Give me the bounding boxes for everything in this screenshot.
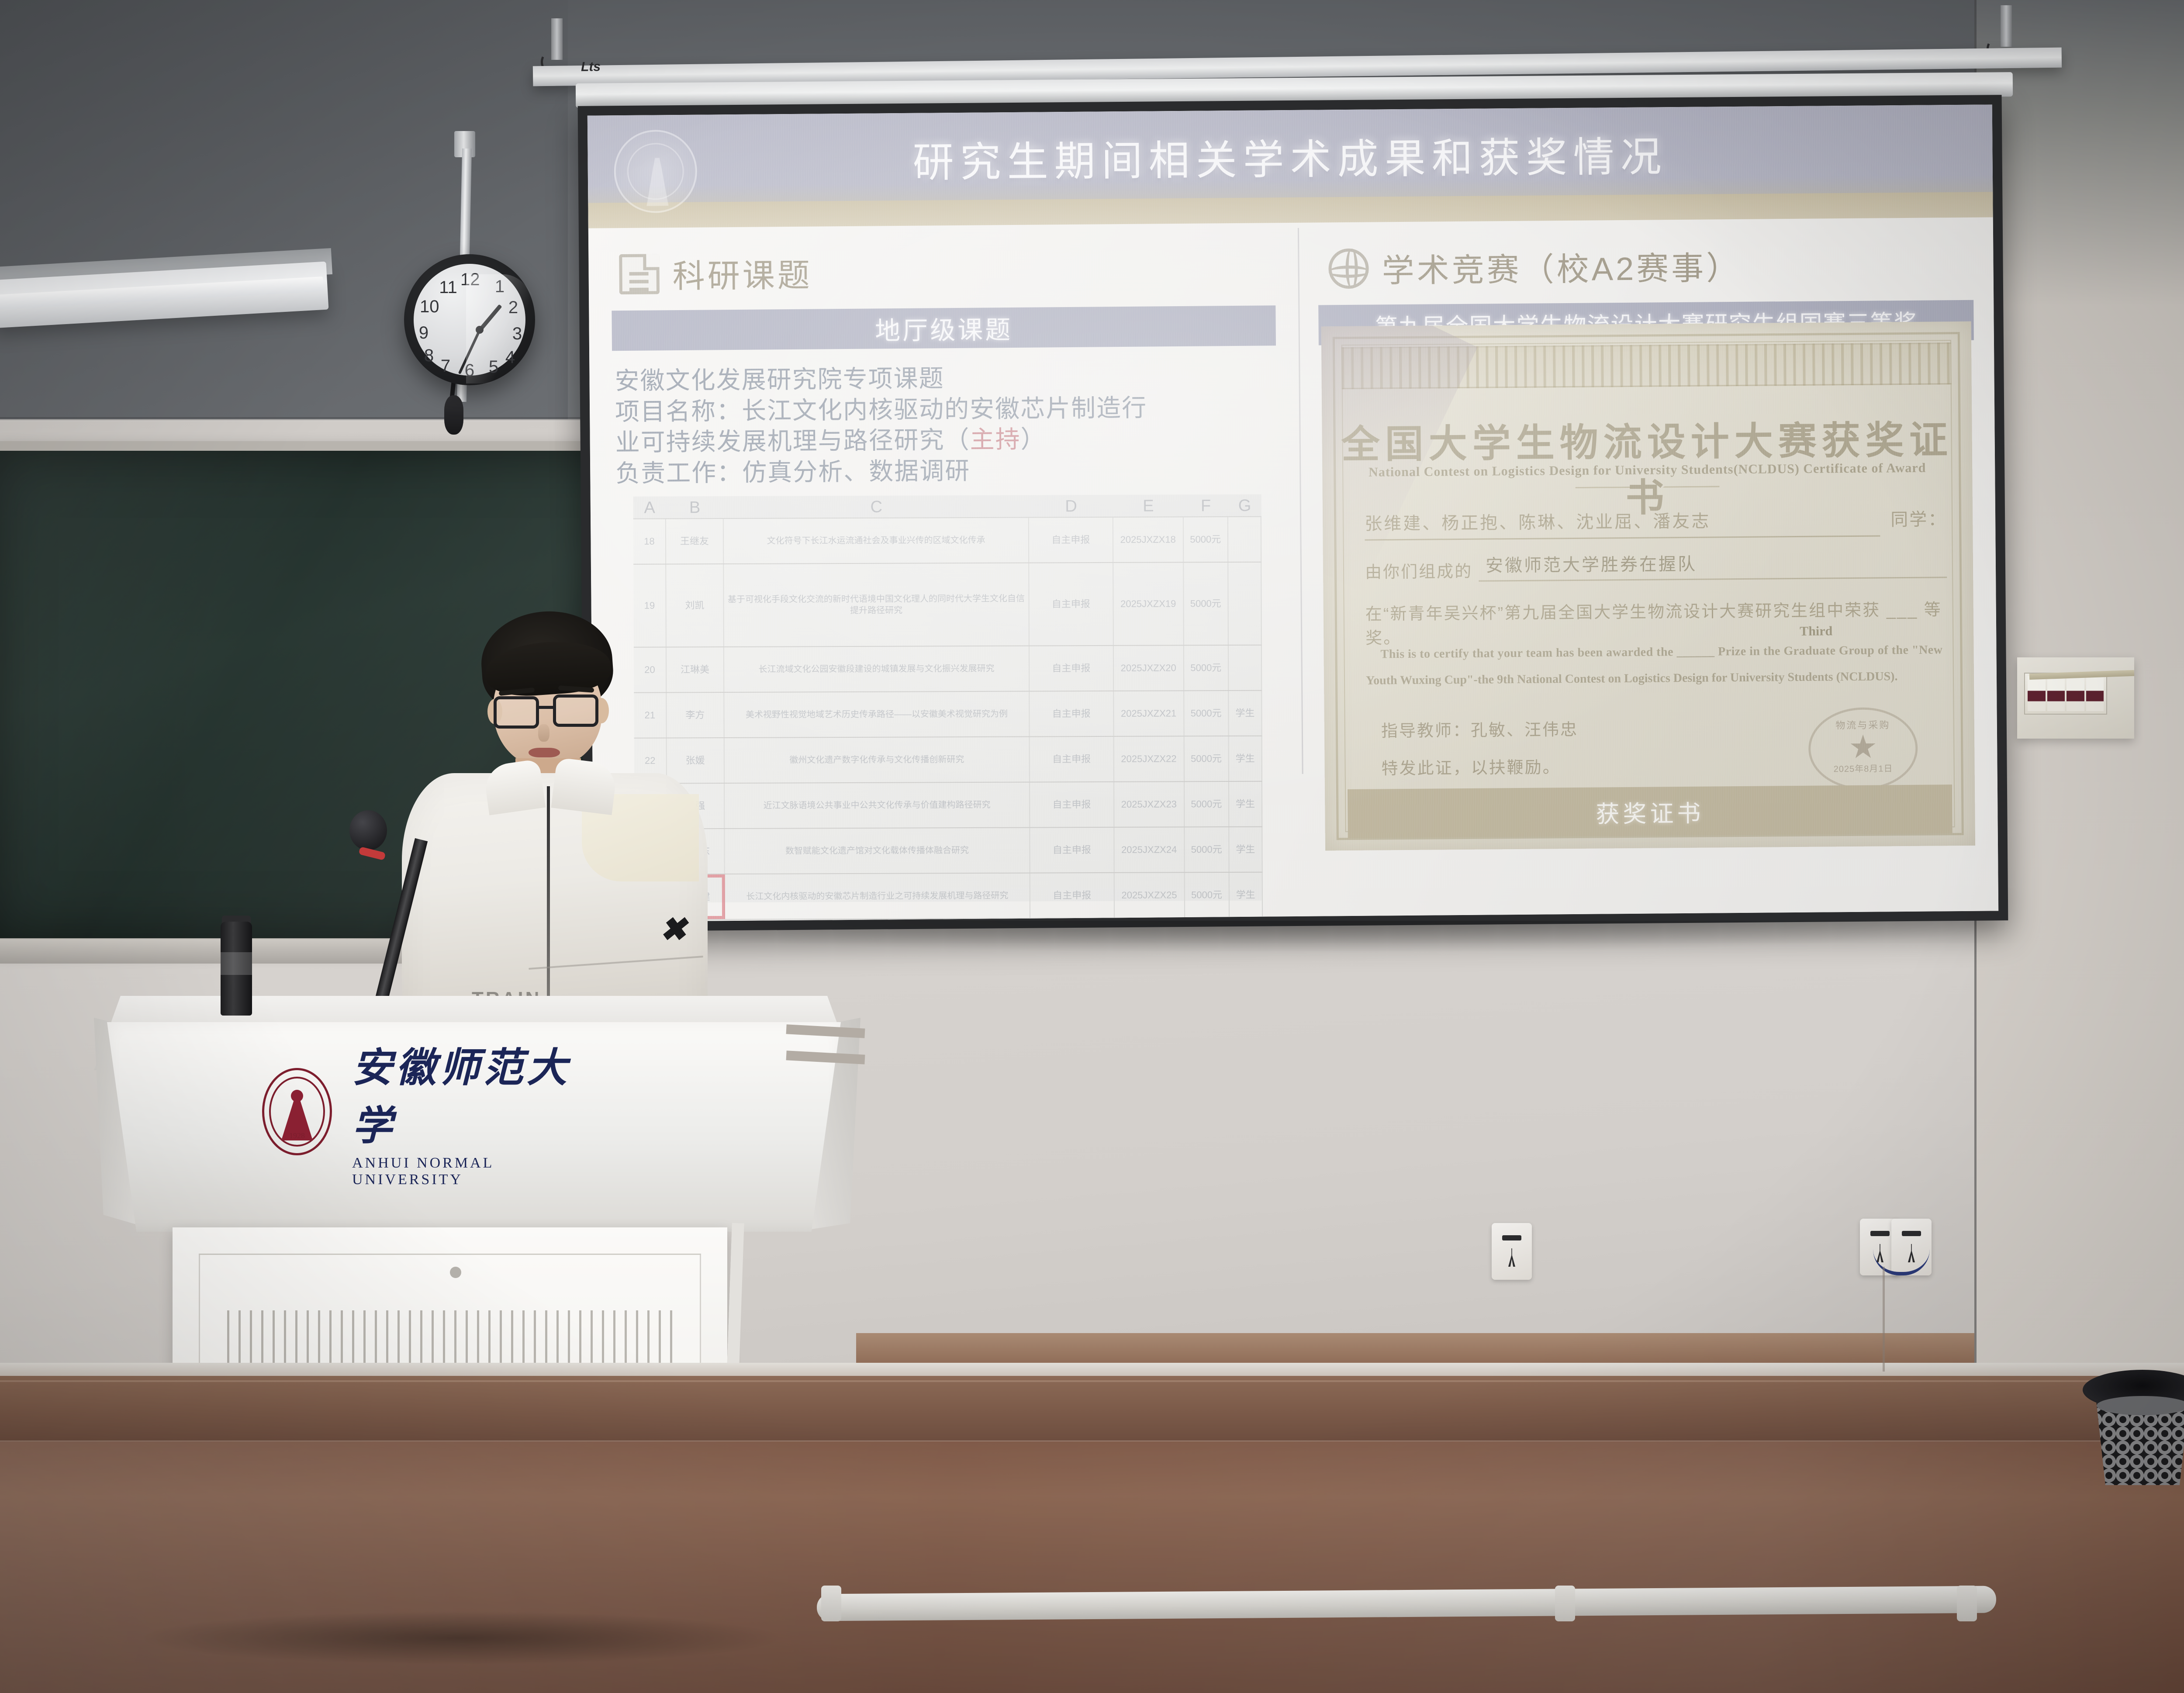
cell-topic: 徽州文化遗产数字化传承与文化传播创新研究 [725,737,1030,783]
table-row: 23 孙强 近江文脉语境公共事业中公共文化传承与价值建构路径研究 自主申报 20… [634,782,1262,829]
cell-no: 18 [633,519,666,563]
cell-note: 学生 [1229,782,1263,826]
table-row: 22 张媛 徽州文化遗产数字化传承与文化传播创新研究 自主申报 2025JXZX… [634,736,1262,784]
left-text-line-3: 业可持续发展机理与路径研究（主持） [615,422,1277,458]
cell-type: 自主申报 [1029,518,1113,563]
certificate-team-name: 安徽师范大学胜券在握队 [1479,548,1947,581]
cell-note [1228,517,1262,562]
cell-topic: 数智赋能文化遗产馆对文化载体传播体融合研究 [725,828,1030,874]
clock-face: 12 1 2 3 4 5 6 7 8 9 10 11 [414,264,525,376]
right-section-header: 学术竞赛（校A2赛事） [1298,217,1994,292]
left-section-header: 科研课题 [588,223,1298,298]
col-header-f: F [1183,494,1228,516]
cell-amount: 5000元 [1185,827,1229,872]
cell-amount: 5000元 [1185,782,1229,826]
cell-date: 2025JXZX21 [1114,691,1184,736]
breaker-switch[interactable] [2047,676,2065,711]
embedded-spreadsheet: A B C D E F G 18 王继友 文化符号 [633,494,1263,903]
cell-note [1229,646,1262,690]
seal-date: 2025年8月1日 [1811,761,1915,775]
col-header-g: G [1228,494,1261,516]
cell-type: 自主申报 [1029,563,1113,646]
x-logo-icon: ✖ [660,917,691,943]
right-section-title: 学术竞赛（校A2赛事） [1382,242,1741,291]
stage-riser-highlight [0,1380,2184,1382]
cell-note: 学生 [1229,827,1263,872]
cell-type: 自主申报 [1030,828,1114,873]
cell-type: 自主申报 [1030,737,1114,782]
cell-amount: 5000元 [1184,563,1229,645]
table-row-highlighted: 25 张维建 长江文化内核驱动的安徽芯片制造行业之可持续发展机理与路径研究 自主… [635,873,1263,920]
presenter-mouth [529,748,560,757]
breaker-switch[interactable] [2067,676,2084,711]
eyeglass-lens-right [553,694,598,727]
waste-bin [2079,1354,2184,1485]
cell-date: 2025JXZX25 [1114,873,1185,918]
cell-amount: 5000元 [1184,517,1228,562]
certificate-body-cn: 在“新青年吴兴杯”第九届全国大学生物流设计大赛研究生组中荣获 ___ 等奖。 [1365,596,1948,648]
cell-note [1228,563,1262,645]
left-text-block: 安徽文化发展研究院专项课题 项目名称：长江文化内核驱动的安徽芯片制造行 业可持续… [615,360,1277,489]
cell-type: 自主申报 [1030,873,1115,918]
document-icon [619,254,660,294]
presenter: ✖ TRAIN 特步运动科技 [384,612,708,1048]
cell-note: 学生 [1229,691,1262,736]
slide-body: 科研课题 地厅级课题 安徽文化发展研究院专项课题 项目名称：长江文化内核驱动的安… [588,217,1998,922]
cell-topic: 文化符号下长江水运流通社会及事业兴传的区域文化传承 [724,518,1029,563]
cell-date: 2025JXZX22 [1114,736,1184,781]
clock-glass-glare [466,274,540,384]
cell-date: 2025JXZX19 [1113,563,1184,645]
screen-shadow [590,921,2005,951]
university-name-cn: 安徽师范大学 [352,1035,603,1151]
table-row: 18 王继友 文化符号下长江水运流通社会及事业兴传的区域文化传承 自主申报 20… [633,517,1261,565]
university-crest-icon: 1928 [262,1068,332,1155]
cell-amount: 5000元 [1184,691,1229,736]
clock-numeral-8: 8 [420,346,438,366]
cell-date: 2025JXZX23 [1114,782,1185,827]
stage-riser [0,1376,2184,1446]
pipe-joint [1555,1586,1575,1621]
left-text-line-1: 安徽文化发展研究院专项课题 [615,360,1276,396]
eyeglass-lens-left [494,696,539,729]
cell-type: 自主申报 [1030,782,1114,827]
presenter-nose [538,724,549,742]
accent-word: 主持 [970,425,1020,453]
wall-outlet-single[interactable] [1492,1223,1532,1280]
slide-title: 研究生期间相关学术成果和获奖情况 [587,121,1993,191]
wall-baseboard [856,1333,1974,1367]
certificate-names-suffix: 同学： [1890,505,1947,531]
cell-date: 2025JXZX20 [1114,646,1184,691]
cell-note: 学生 [1229,736,1262,781]
pipe-joint [1957,1586,1977,1621]
podium-floor-shadow [144,1612,778,1664]
col-header-c: C [724,495,1029,518]
classroom-scene: Lts 12 1 2 3 4 5 6 7 8 9 10 11 [0,0,2184,1693]
certificate-prize-level: Third [1800,624,1832,639]
breaker-switch[interactable] [2086,676,2104,711]
housing-brand-label: Lts [581,59,633,74]
clock-numeral-11: 11 [439,278,457,297]
cell-note: 学生 [1230,873,1263,917]
jacket-collar-left [483,759,546,815]
clock-numeral-10: 10 [420,297,438,317]
col-header-b: B [666,496,723,518]
presenter-eyeglasses [489,694,611,732]
seal-star-icon: ★ [1849,731,1878,764]
outlet-hanging-wire [1883,1267,1885,1372]
table-row: 19 刘凯 基于可视化手段文化交流的新时代语境中国文化理人的同时代大学生文化自信… [633,563,1262,648]
table-row: 24 马晨东 数智赋能文化遗产馆对文化载体传播体融合研究 自主申报 2025JX… [634,827,1262,875]
podium-name-block: 安徽师范大学 ANHUI NORMAL UNIVERSITY [352,1035,603,1188]
cell-topic: 基于可视化手段文化交流的新时代语境中国文化理人的同时代大学生文化自信提升路径研究 [724,563,1030,646]
cell-type: 自主申报 [1030,646,1114,691]
cell-topic: 长江文化内核驱动的安徽芯片制造行业之可持续发展机理与路径研究 [725,874,1030,919]
certificate-grant-line: 特发此证，以扶鞭励。 [1381,753,1560,779]
cell-type: 自主申报 [1030,691,1114,736]
left-subbar-label: 地厅级课题 [875,309,1013,347]
slide-right-column: 学术竞赛（校A2赛事） 第九届全国大学生物流设计大赛研究生组国赛三等奖 全国大学… [1298,217,1998,916]
left-subbar: 地厅级课题 [612,305,1276,351]
podium-university-branding: 1928 安徽师范大学 ANHUI NORMAL UNIVERSITY [262,1057,603,1166]
wall-clock: 12 1 2 3 4 5 6 7 8 9 10 11 [404,254,535,385]
cell-name: 王继友 [666,519,724,563]
eyeglass-bridge [539,706,555,709]
jacket-collar-right [551,757,618,815]
table-row: 21 李方 美术视野性视觉地域艺术历史传承路径——以安徽美术视觉研究为例 自主申… [634,691,1262,739]
crest-founding-year: 1928 [262,1131,332,1140]
pipe-joint [821,1586,841,1621]
clock-numeral-7: 7 [436,356,455,376]
certificate-team-lead: 由你们组成的 [1365,558,1472,583]
cell-topic: 长江流域文化公园安徽段建设的城镇发展与文化振兴发展研究 [724,646,1030,692]
waste-bin-rim [2097,1396,2184,1415]
cell-topic: 美术视野性视觉地域艺术历史传承路径——以安徽美术视觉研究为例 [724,692,1030,737]
presentation-slide: 研究生期间相关学术成果和获奖情况 科研课题 地厅级课题 安徽文化发展研究院专项课… [587,104,1998,922]
cell-amount: 5000元 [1185,873,1229,917]
left-section-title: 科研课题 [672,249,812,297]
podium-cabinet-knob[interactable] [450,1267,461,1278]
certificate-caption: 获奖证书 [1596,794,1704,829]
projector-screen-frame: 研究生期间相关学术成果和获奖情况 科研课题 地厅级课题 安徽文化发展研究院专项课… [578,95,2008,932]
podium-vent-grille [227,1310,677,1367]
table-row: 20 江琳美 长江流域文化公园安徽段建设的城镇发展与文化振兴发展研究 自主申报 … [634,646,1262,693]
certificate-recipient-names: 张维建、杨正抱、陈琳、沈业屈、潘友志 [1365,505,1880,540]
cell-amount: 5000元 [1184,646,1229,690]
cell-date: 2025JXZX18 [1113,517,1184,562]
breaker-switch[interactable] [2028,676,2046,711]
left-text-line-4: 负责工作：仿真分析、数据调研 [615,453,1277,489]
col-header-d: D [1029,495,1113,517]
spreadsheet-column-headers: A B C D E F G [633,494,1261,519]
certificate-advisors: 指导教师：孔敏、汪伟忠 [1381,716,1578,742]
globe-icon [1328,248,1369,289]
bottle-label [221,952,252,975]
mic-head [444,395,463,435]
col-header-e: E [1113,494,1183,517]
col-header-a: A [633,496,666,518]
certificate-team-line: 由你们组成的 安徽师范大学胜券在握队 [1365,548,1947,582]
desk-microphone-head [349,810,387,850]
cell-amount: 5000元 [1184,736,1229,781]
clock-numeral-9: 9 [415,323,433,343]
cell-date: 2025JXZX24 [1114,827,1185,872]
left-text-line-2: 项目名称：长江文化内核驱动的安徽芯片制造行 [615,391,1277,427]
university-name-en: ANHUI NORMAL UNIVERSITY [352,1155,603,1188]
projector-screen[interactable]: 研究生期间相关学术成果和获奖情况 科研课题 地厅级课题 安徽文化发展研究院专项课… [587,104,1998,922]
cell-topic: 近江文脉语境公共事业中公共文化传承与价值建构路径研究 [725,783,1030,828]
award-certificate-image: 全国大学生物流设计大赛获奖证书 National Contest on Logi… [1321,321,1975,851]
certificate-caption-bar: 获奖证书 [1348,784,1952,838]
